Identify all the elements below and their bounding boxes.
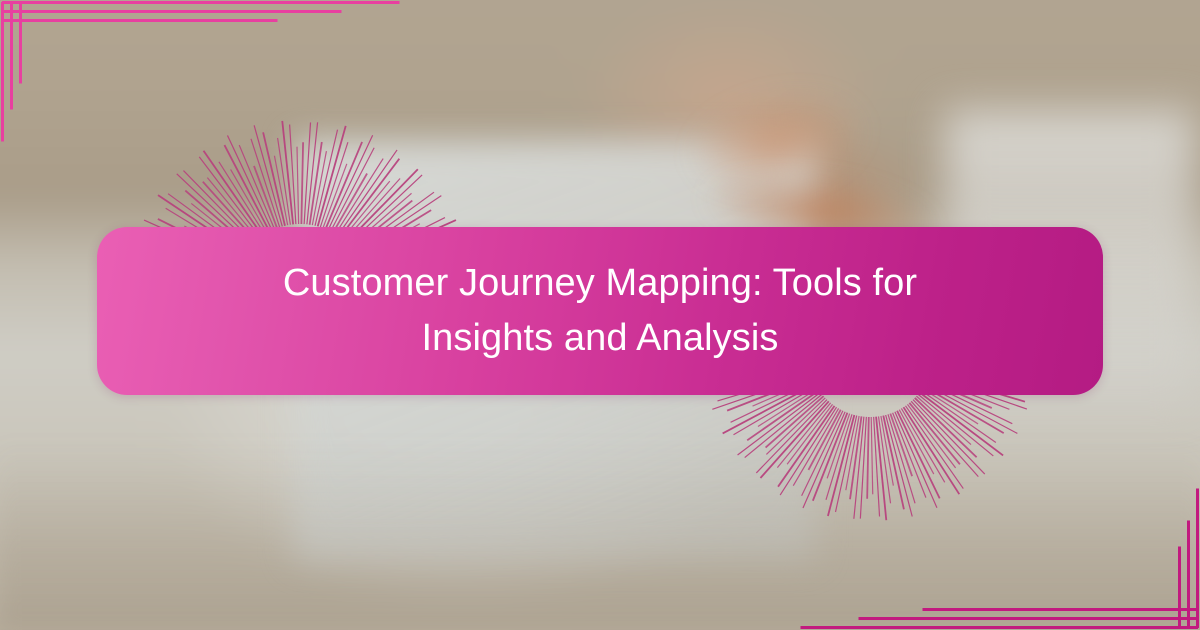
share-card-canvas: Customer Journey Mapping: Tools for Insi… <box>0 0 1200 630</box>
corner-ornament-bottom-right <box>730 430 1200 630</box>
page-title: Customer Journey Mapping: Tools for Insi… <box>220 256 980 366</box>
corner-ornament-top-left <box>0 0 470 200</box>
title-card: Customer Journey Mapping: Tools for Insi… <box>97 227 1103 395</box>
